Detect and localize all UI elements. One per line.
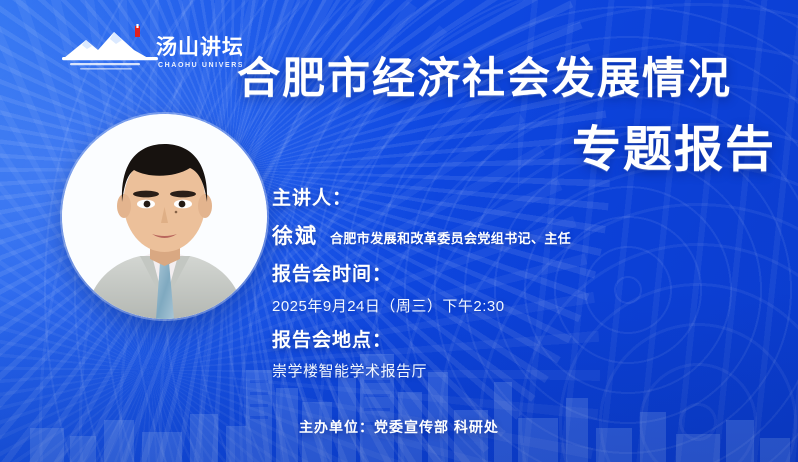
speaker-row: 徐斌 合肥市发展和改革委员会党组书记、主任	[272, 220, 772, 250]
poster-headline: 合肥市经济社会发展情况 专题报告	[237, 58, 782, 175]
speaker-name: 徐斌	[272, 220, 318, 250]
detail-spacer-2	[272, 316, 772, 330]
speaker-organization: 合肥市发展和改革委员会党组书记、主任	[330, 228, 571, 247]
mountain-logo-icon: 汤山讲坛 CHAOHU UNIVERSITY	[62, 24, 242, 76]
logo-name-en: CHAOHU UNIVERSITY	[158, 62, 242, 69]
university-logo: 汤山讲坛 CHAOHU UNIVERSITY	[62, 24, 242, 76]
logo-name-cn: 汤山讲坛	[156, 35, 242, 59]
lecture-poster: 汤山讲坛 CHAOHU UNIVERSITY	[0, 0, 798, 462]
detail-spacer-1	[272, 250, 772, 264]
venue-value: 崇学楼智能学术报告厅	[272, 360, 772, 381]
organizer-line: 主办单位：党委宣传部 科研处	[0, 417, 798, 437]
headline-line-1: 合肥市经济社会发展情况	[237, 58, 782, 101]
time-value: 2025年9月24日（周三）下午2:30	[272, 295, 772, 316]
event-details: 主讲人： 徐斌 合肥市发展和改革委员会党组书记、主任 报告会时间： 2025年9…	[272, 188, 772, 381]
venue-label: 报告会地点：	[272, 330, 772, 353]
headline-line-2: 专题报告	[237, 126, 782, 175]
speaker-label: 主讲人：	[272, 188, 772, 211]
time-label: 报告会时间：	[272, 264, 772, 287]
